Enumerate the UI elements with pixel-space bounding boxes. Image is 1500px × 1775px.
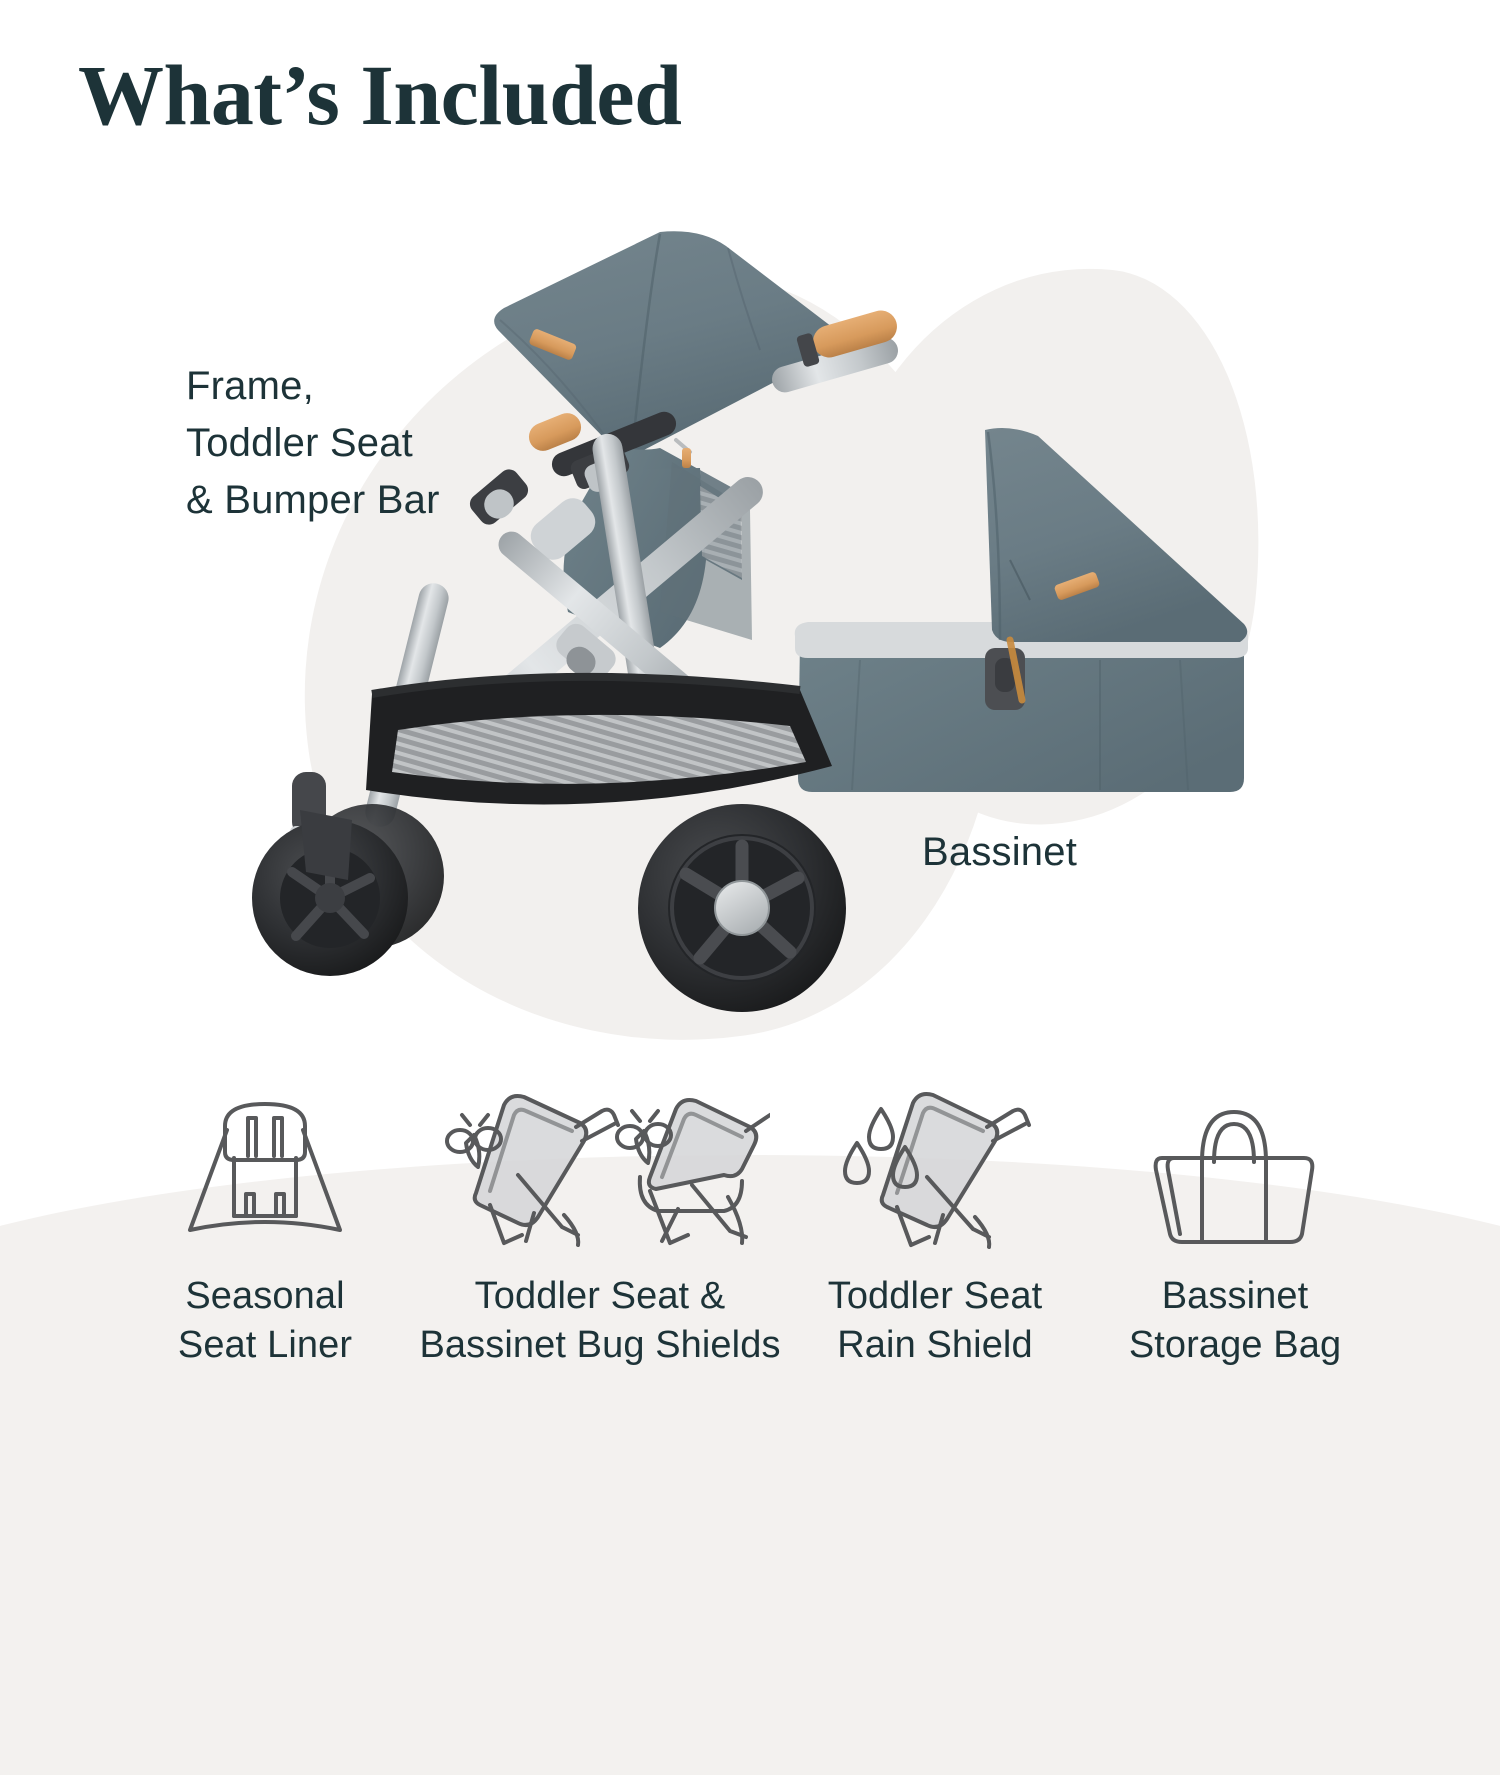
storage-basket (366, 677, 832, 805)
rain-shield-icon (835, 1085, 1035, 1250)
accessory-label: Seasonal Seat Liner (178, 1272, 352, 1369)
storage-bag-icon (1140, 1085, 1330, 1250)
front-wheel (252, 804, 444, 976)
seat-liner-icon (170, 1085, 360, 1250)
accessory-rain-shield: Toddler Seat Rain Shield (785, 1085, 1085, 1369)
accessory-label: Toddler Seat & Bassinet Bug Shields (419, 1272, 780, 1369)
bug-shield-icon (430, 1085, 770, 1250)
accessory-seasonal-seat-liner: Seasonal Seat Liner (115, 1085, 415, 1369)
rear-wheel (638, 804, 846, 1012)
infographic-stage: What’s Included Frame, Toddler Seat & Bu… (0, 0, 1500, 1500)
stroller-product (252, 231, 901, 1012)
accessories-row: Seasonal Seat Liner (0, 1085, 1500, 1369)
accessory-bassinet-storage-bag: Bassinet Storage Bag (1085, 1085, 1385, 1369)
accessory-label: Toddler Seat Rain Shield (828, 1272, 1043, 1369)
bassinet-product (795, 428, 1248, 792)
accessory-bug-shields: Toddler Seat & Bassinet Bug Shields (415, 1085, 785, 1369)
accessory-label: Bassinet Storage Bag (1129, 1272, 1341, 1369)
